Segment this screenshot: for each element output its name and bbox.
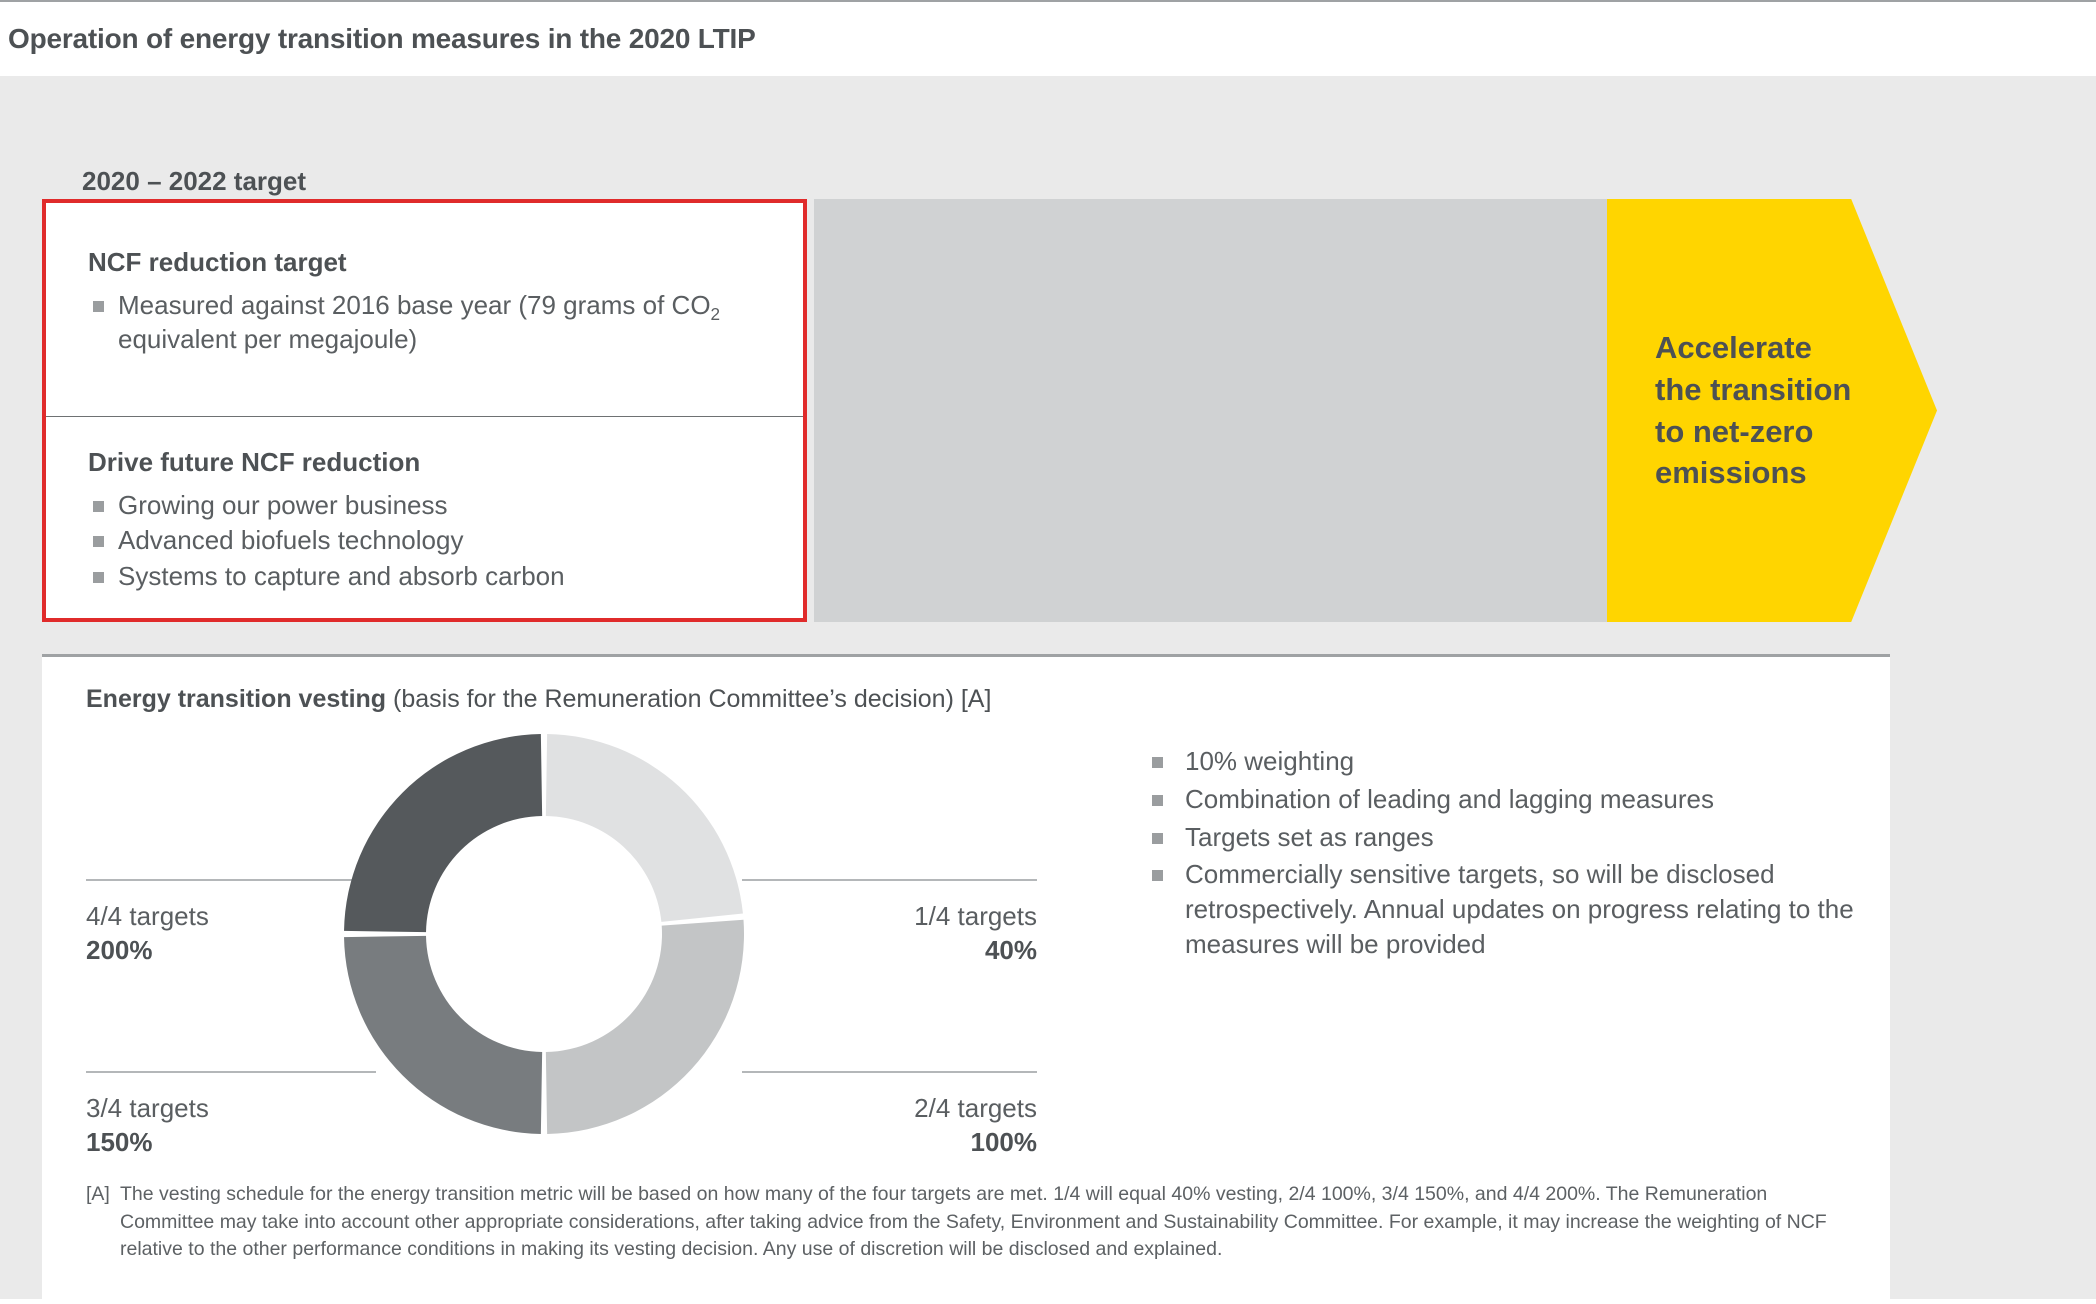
list-item: Combination of leading and lagging measu… xyxy=(1147,782,1887,817)
list-item: Measured against 2016 base year (79 gram… xyxy=(88,288,769,357)
list-item: Targets set as ranges xyxy=(1147,820,1887,855)
connector-rule-3-4 xyxy=(86,1071,376,1073)
segment-name: 4/4 targets xyxy=(86,901,209,931)
donut-slice-2-4-targets xyxy=(546,920,744,1134)
vesting-title-rest: (basis for the Remuneration Committee’s … xyxy=(386,685,991,713)
list-item: Commercially sensitive targets, so will … xyxy=(1147,857,1887,961)
content-canvas: 2020 – 2022 target 3-4% reduction NCF re… xyxy=(0,76,2096,1299)
segment-name: 2/4 targets xyxy=(914,1093,1037,1123)
list-item: Advanced biofuels technology xyxy=(88,523,769,557)
ncf-target-section: NCF reduction target Measured against 20… xyxy=(46,203,803,416)
page-title: Operation of energy transition measures … xyxy=(8,23,756,55)
segment-label-3-4: 3/4 targets 150% xyxy=(86,1091,209,1160)
vesting-panel: Energy transition vesting (basis for the… xyxy=(42,654,1890,1304)
footnote-text: The vesting schedule for the energy tran… xyxy=(120,1181,1846,1264)
footnote: [A] The vesting schedule for the energy … xyxy=(86,1181,1846,1264)
list-item: Growing our power business xyxy=(88,488,769,522)
segment-value: 150% xyxy=(86,1125,209,1159)
segment-value: 200% xyxy=(86,933,209,967)
vesting-notes: 10% weighting Combination of leading and… xyxy=(1147,744,1887,965)
drive-future-bullet-list: Growing our power business Advanced biof… xyxy=(88,488,769,593)
connector-rule-2-4 xyxy=(742,1071,1037,1073)
vesting-donut-chart xyxy=(342,732,746,1136)
donut-slice-4-4-targets xyxy=(344,734,542,932)
segment-label-1-4: 1/4 targets 40% xyxy=(742,899,1037,968)
segment-value: 40% xyxy=(742,933,1037,967)
arrow-label: Accelerate the transition to net-zero em… xyxy=(1607,327,1851,494)
list-item: 10% weighting xyxy=(1147,744,1887,779)
segment-value: 100% xyxy=(742,1125,1037,1159)
segment-label-2-4: 2/4 targets 100% xyxy=(742,1091,1037,1160)
vesting-body: 4/4 targets 200% 1/4 targets 40% 3/4 tar… xyxy=(42,714,1890,1074)
vesting-title-bold: Energy transition vesting xyxy=(86,685,386,713)
donut-svg xyxy=(342,732,746,1136)
vesting-notes-list: 10% weighting Combination of leading and… xyxy=(1147,744,1887,962)
ncf-target-heading: NCF reduction target xyxy=(88,247,769,278)
segment-label-4-4: 4/4 targets 200% xyxy=(86,899,209,968)
connector-rule-4-4 xyxy=(86,879,376,881)
target-grey-band xyxy=(814,199,1607,622)
page-title-bar: Operation of energy transition measures … xyxy=(0,0,2096,76)
segment-name: 3/4 targets xyxy=(86,1093,209,1123)
donut-slices xyxy=(344,734,744,1134)
donut-slice-3-4-targets xyxy=(344,936,542,1134)
accelerate-transition-arrow: Accelerate the transition to net-zero em… xyxy=(1607,199,1937,622)
ncf-target-bullet-list: Measured against 2016 base year (79 gram… xyxy=(88,288,769,357)
drive-future-heading: Drive future NCF reduction xyxy=(88,447,769,478)
drive-future-section: Drive future NCF reduction Growing our p… xyxy=(46,417,803,593)
connector-rule-1-4 xyxy=(742,879,1037,881)
ncf-reduction-box: NCF reduction target Measured against 20… xyxy=(42,199,807,622)
vesting-title: Energy transition vesting (basis for the… xyxy=(42,657,1890,714)
list-item: Systems to capture and absorb carbon xyxy=(88,559,769,593)
top-band: 2020 – 2022 target 3-4% reduction NCF re… xyxy=(42,124,1890,622)
segment-name: 1/4 targets xyxy=(914,901,1037,931)
target-heading: 2020 – 2022 target xyxy=(82,166,782,197)
footnote-tag: [A] xyxy=(86,1181,120,1264)
donut-slice-1-4-targets xyxy=(546,734,743,922)
